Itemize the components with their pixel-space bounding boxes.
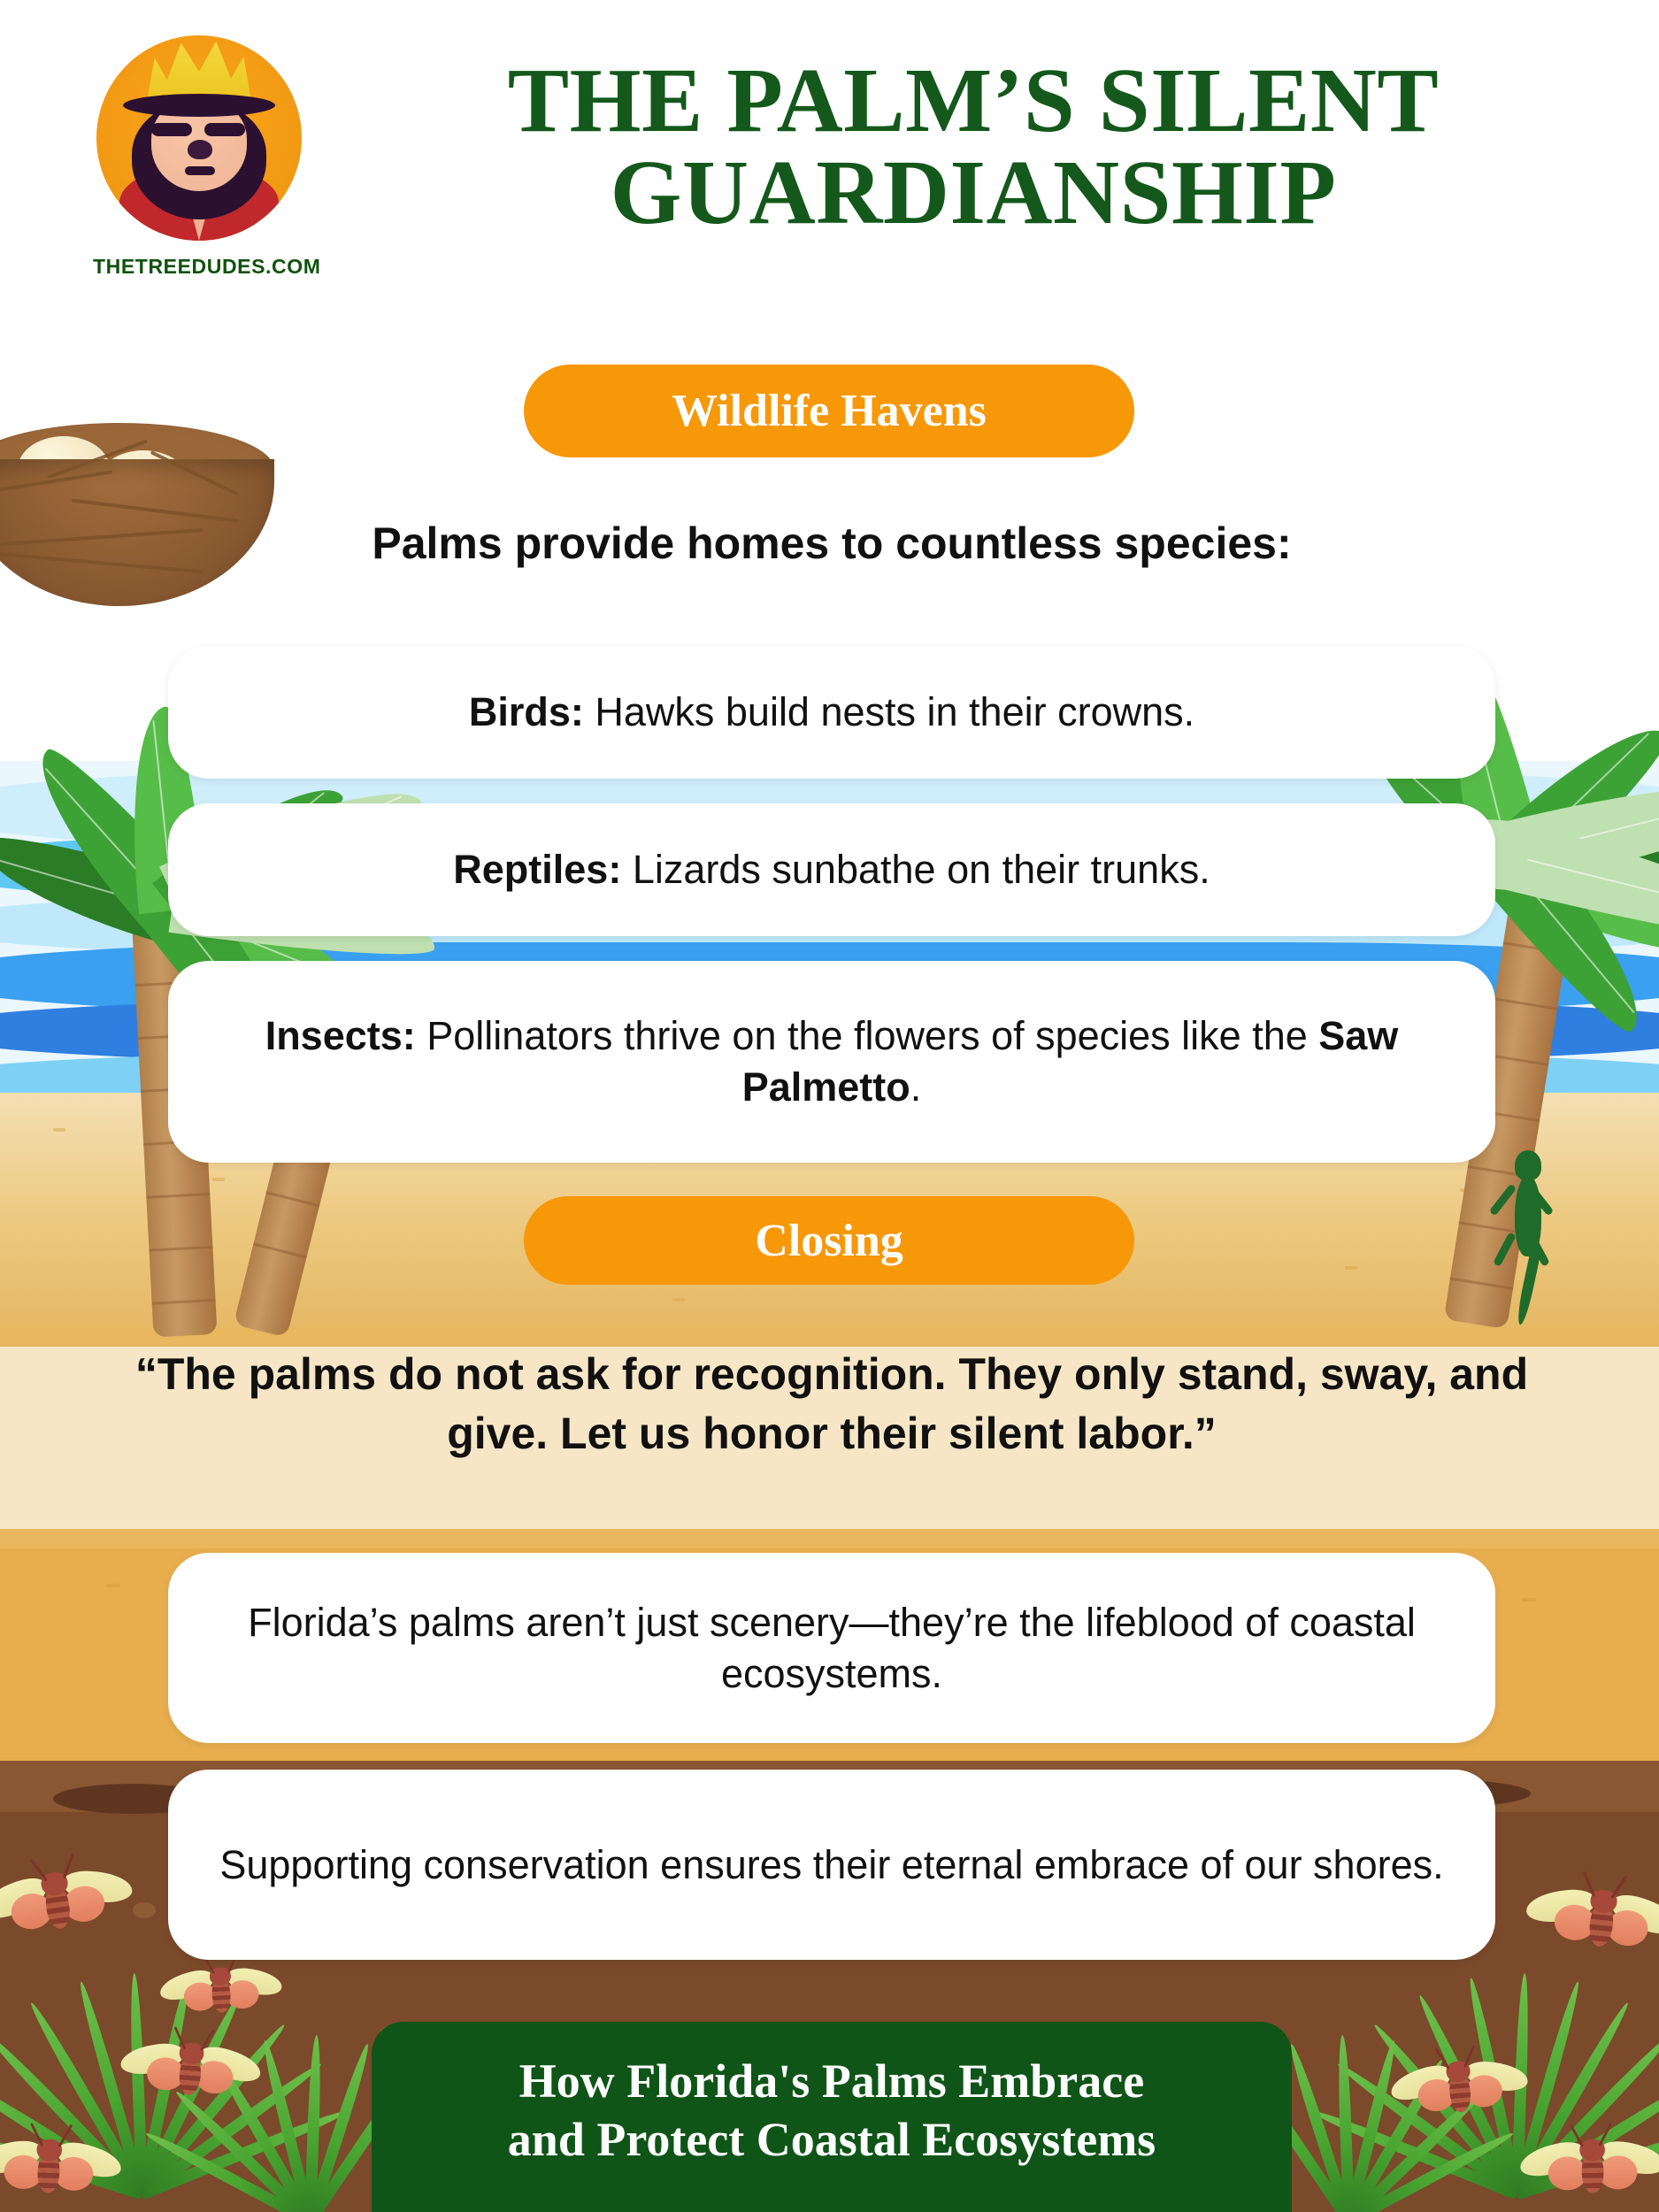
fact-card-reptiles-lead: Reptiles: (453, 847, 621, 892)
page-title: THE PALM’S SILENT GUARDIANSHIP (354, 55, 1593, 239)
closing-card-two: Supporting conservation ensures their et… (168, 1770, 1495, 1960)
closing-card-two-text: Supporting conservation ensures their et… (219, 1839, 1443, 1891)
lumberjack-avatar-icon (96, 35, 302, 241)
fact-card-insects: Insects: Pollinators thrive on the flowe… (168, 961, 1495, 1163)
section-subheading: Palms provide homes to countless species… (159, 518, 1504, 569)
footer-line-1: How Florida's Palms Embrace (508, 2053, 1156, 2111)
brand-logo-block[interactable]: THETREEDUDES.COM (93, 35, 305, 279)
fact-card-insects-lead: Insects: (265, 1013, 416, 1058)
fact-card-birds-text: Hawks build nests in their crowns. (584, 689, 1194, 734)
fact-card-reptiles-text: Lizards sunbathe on their trunks. (621, 847, 1210, 892)
fact-card-reptiles: Reptiles: Lizards sunbathe on their trun… (168, 803, 1495, 936)
closing-card-one-text: Florida’s palms aren’t just scenery—they… (218, 1597, 1446, 1699)
fact-card-birds: Birds: Hawks build nests in their crowns… (168, 646, 1495, 779)
footer-line-2: and Protect Coastal Ecosystems (508, 2111, 1156, 2170)
section-badge-wildlife-havens[interactable]: Wildlife Havens (524, 365, 1134, 457)
pull-quote: “The palms do not ask for recognition. T… (97, 1345, 1566, 1463)
fact-card-insects-tail: . (910, 1064, 922, 1110)
fact-card-birds-lead: Birds: (469, 689, 584, 734)
brand-url-text: THETREEDUDES.COM (93, 255, 305, 279)
page-title-line-1: THE PALM’S SILENT (354, 55, 1593, 147)
fact-card-insects-text: Pollinators thrive on the flowers of spe… (416, 1013, 1319, 1058)
page-title-line-2: GUARDIANSHIP (354, 147, 1593, 239)
closing-card-one: Florida’s palms aren’t just scenery—they… (168, 1553, 1495, 1743)
footer-banner: How Florida's Palms Embrace and Protect … (372, 2022, 1292, 2212)
infographic-page: THETREEDUDES.COM THE PALM’S SILENT GUARD… (0, 0, 1659, 2212)
section-badge-closing[interactable]: Closing (524, 1196, 1134, 1285)
